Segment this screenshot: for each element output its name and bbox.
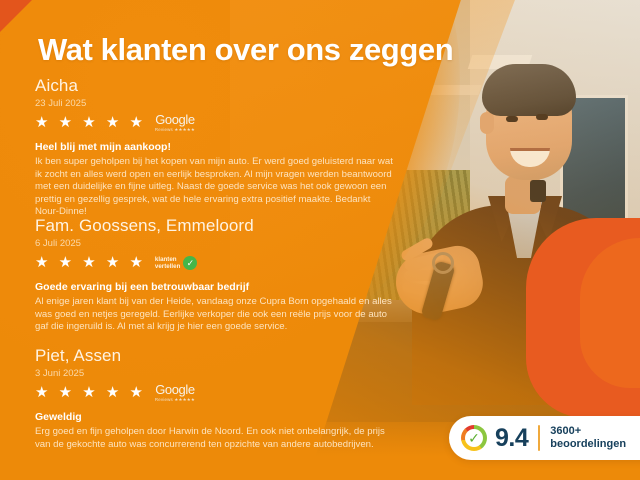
logo-checkmark: ✓ (465, 429, 483, 447)
review-count-label: beoordelingen (550, 438, 626, 451)
star-rating-icon: ★ ★ ★ ★ ★ (35, 115, 146, 131)
google-logo-icon: Google (155, 113, 195, 126)
overall-rating-badge: ✓ 9.4 3600+ beoordelingen (449, 416, 640, 460)
review-title: Heel blij met mijn aankoop! (35, 140, 410, 154)
review-count-number: 3600+ (550, 425, 626, 438)
review-meta: ★ ★ ★ ★ ★ Google Reviews ★★★★★ (35, 113, 410, 133)
review-date: 23 Juli 2025 (35, 97, 410, 110)
review-body: Erg goed en fijn geholpen door Harwin de… (35, 426, 395, 451)
klantenvertellen-logo-icon: ✓ (461, 425, 487, 451)
review-date: 3 Juni 2025 (35, 367, 410, 380)
slide-content: Wat klanten over ons zeggen Aicha 23 Jul… (0, 0, 640, 480)
review-date: 6 Juli 2025 (35, 237, 410, 250)
reviewer-name: Fam. Goossens, Emmeloord (35, 216, 410, 236)
page-title: Wat klanten over ons zeggen (38, 32, 453, 68)
badge-divider (538, 425, 540, 451)
klantenvertellen-line-2: vertellen (155, 263, 180, 270)
star-rating-icon: ★ ★ ★ ★ ★ (35, 255, 146, 271)
klantenvertellen-line-1: klanten (155, 256, 180, 263)
google-reviews-subtitle: Reviews ★★★★★ (155, 397, 195, 403)
google-reviews-badge: Google Reviews ★★★★★ (155, 113, 195, 133)
google-reviews-badge: Google Reviews ★★★★★ (155, 383, 195, 403)
star-rating-icon: ★ ★ ★ ★ ★ (35, 385, 146, 401)
review-card: Piet, Assen 3 Juni 2025 ★ ★ ★ ★ ★ Google… (35, 346, 410, 451)
klantenvertellen-wordmark: klanten vertellen (155, 256, 180, 271)
rating-score: 9.4 (495, 425, 528, 451)
review-title: Geweldig (35, 410, 410, 424)
review-body: Al enige jaren klant bij van der Heide, … (35, 296, 395, 334)
review-card: Aicha 23 Juli 2025 ★ ★ ★ ★ ★ Google Revi… (35, 76, 410, 219)
review-count-group: 3600+ beoordelingen (550, 425, 626, 451)
klantenvertellen-badge: klanten vertellen ✓ (155, 256, 197, 271)
review-title: Goede ervaring bij een betrouwbaar bedri… (35, 280, 410, 294)
google-logo-icon: Google (155, 383, 195, 396)
reviewer-name: Aicha (35, 76, 410, 96)
google-reviews-subtitle: Reviews ★★★★★ (155, 127, 195, 133)
reviewer-name: Piet, Assen (35, 346, 410, 366)
review-meta: ★ ★ ★ ★ ★ klanten vertellen ✓ (35, 253, 410, 273)
check-circle-icon: ✓ (183, 256, 197, 270)
review-meta: ★ ★ ★ ★ ★ Google Reviews ★★★★★ (35, 383, 410, 403)
review-body: Ik ben super geholpen bij het kopen van … (35, 156, 395, 219)
review-card: Fam. Goossens, Emmeloord 6 Juli 2025 ★ ★… (35, 216, 410, 334)
testimonial-slide: ▶◀ Wat klanten over ons zeggen Aicha 23 … (0, 0, 640, 480)
